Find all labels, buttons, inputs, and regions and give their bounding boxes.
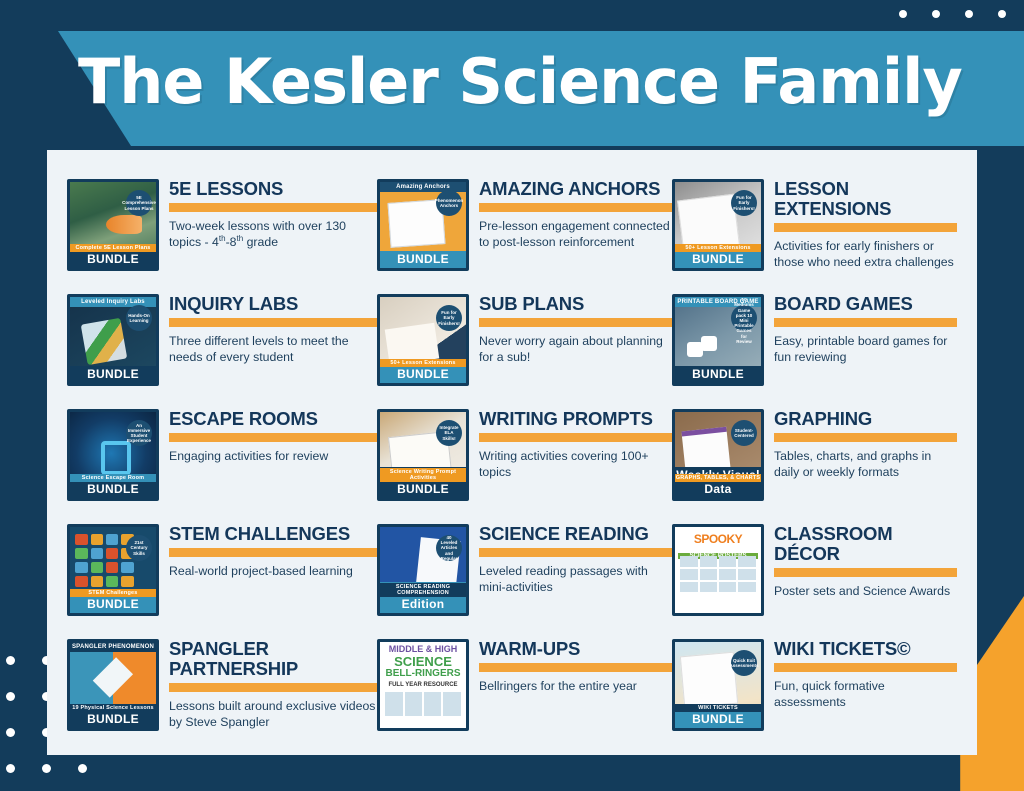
dot-row	[6, 764, 87, 773]
product-thumbnail[interactable]: Integrate ELA Skills!MEGA BUNDLEScience …	[377, 409, 469, 501]
product-title: 5E LESSONS	[169, 179, 377, 199]
product-text-block: SCIENCE READINGLeveled reading passages …	[479, 520, 672, 596]
product-thumbnail[interactable]: SPOOKYSCIENCE POSTERS	[672, 524, 764, 616]
product-text-block: WARM-UPSBellringers for the entire year	[479, 635, 672, 694]
product-item[interactable]: 40 Leveled Articles and RegularBundle Ed…	[377, 520, 672, 635]
accent-rule	[479, 203, 672, 212]
dot	[6, 764, 15, 773]
desc-text: Engaging activities for review	[169, 449, 328, 463]
thumbnail-badge: 40 Leveled Articles and Regular	[436, 535, 462, 561]
product-title: SUB PLANS	[479, 294, 672, 314]
thumbnail-badge: Quick Exit Assessments	[731, 650, 757, 676]
desc-text: Writing activities covering 100+ topics	[479, 449, 649, 479]
product-item[interactable]: Student-CenteredWeekly Visual DataGRAPHS…	[672, 405, 957, 520]
accent-rule	[479, 433, 672, 442]
thumbnail-badge: 21st Century Skills	[126, 535, 152, 561]
product-description: Three different levels to meet the needs…	[169, 333, 377, 366]
product-thumbnail[interactable]: SPANGLER PHENOMENONBUNDLE19 Physical Sci…	[67, 639, 159, 731]
warm-thumb-grid	[385, 692, 461, 716]
dot	[899, 10, 907, 18]
thumbnail-caption: BUNDLE	[380, 251, 466, 268]
product-text-block: INQUIRY LABSThree different levels to me…	[169, 290, 377, 366]
dot	[965, 10, 973, 18]
accent-rule	[774, 568, 957, 577]
dot	[6, 692, 15, 701]
thumbnail-caption: BUNDLE	[70, 251, 156, 268]
product-text-block: GRAPHINGTables, charts, and graphs in da…	[774, 405, 957, 481]
product-description: Two-week lessons with over 130 topics - …	[169, 218, 377, 251]
product-text-block: STEM CHALLENGESReal-world project-based …	[169, 520, 377, 579]
accent-rule	[774, 433, 957, 442]
thumbnail-caption: BUNDLE	[675, 366, 761, 383]
thumbnail-subcaption: 19 Physical Science Lessons	[70, 704, 156, 712]
desc-text: Never worry again about planning for a s…	[479, 334, 663, 364]
product-description: Pre-lesson engagement connected to post-…	[479, 218, 672, 251]
desc-text: Three different levels to meet the needs…	[169, 334, 349, 364]
product-item[interactable]: Fun for Early Finishers!BUNDLE50+ Lesson…	[377, 290, 672, 405]
product-item[interactable]: Amazing AnchorsPhenomenon AnchorsBUNDLEA…	[377, 175, 672, 290]
product-title: GRAPHING	[774, 409, 957, 429]
product-item[interactable]: PRINTABLE BOARD GAMEIncludes 10 Mediums …	[672, 290, 957, 405]
product-title: WRITING PROMPTS	[479, 409, 672, 429]
thumbnail-badge: An Immersive Student Experience	[126, 420, 152, 446]
product-title: AMAZING ANCHORS	[479, 179, 672, 199]
product-description: Never worry again about planning for a s…	[479, 333, 672, 366]
product-title: WARM-UPS	[479, 639, 672, 659]
content-card: 5E Comprehensive Lesson PlansBUNDLECompl…	[47, 150, 977, 755]
desc-end: grade	[243, 236, 278, 250]
product-thumbnail[interactable]: Leveled Inquiry LabsHands-On LearningBUN…	[67, 294, 159, 386]
thumbnail-caption: Weekly Visual Data	[675, 467, 761, 498]
product-grid: 5E Comprehensive Lesson PlansBUNDLECompl…	[67, 175, 957, 750]
thumbnail-subcaption: STEM Challenges	[70, 589, 156, 597]
product-text-block: AMAZING ANCHORSPre-lesson engagement con…	[479, 175, 672, 251]
product-item[interactable]: Integrate ELA Skills!MEGA BUNDLEScience …	[377, 405, 672, 520]
thumbnail-badge: 5E Comprehensive Lesson Plans	[126, 190, 152, 216]
desc-text: Lessons built around exclusive videos by…	[169, 699, 375, 729]
product-thumbnail[interactable]: 5E Comprehensive Lesson PlansBUNDLECompl…	[67, 179, 159, 271]
desc-text: Fun, quick formative assessments	[774, 679, 885, 709]
stem-icon-grid	[75, 534, 133, 587]
thumbnail-caption: BUNDLE	[70, 711, 156, 728]
thumbnail-subcaption: GRAPHS, TABLES, & CHARTS	[675, 474, 761, 482]
desc-text: Poster sets and Science Awards	[774, 584, 950, 598]
accent-rule	[169, 548, 377, 557]
product-description: Fun, quick formative assessments	[774, 678, 957, 711]
product-title: ESCAPE ROOMS	[169, 409, 377, 429]
product-text-block: ESCAPE ROOMSEngaging activities for revi…	[169, 405, 377, 464]
desc-text: Tables, charts, and graphs in daily or w…	[774, 449, 931, 479]
thumbnail-caption: BUNDLE	[70, 366, 156, 383]
product-thumbnail[interactable]: MIDDLE & HIGHSCIENCEBELL-RINGERSFULL YEA…	[377, 639, 469, 731]
thumbnail-subcaption: 50+ Lesson Extensions	[380, 359, 466, 367]
desc-sup-1: th	[219, 234, 226, 243]
product-title: SCIENCE READING	[479, 524, 672, 544]
product-text-block: CLASSROOM DÉCORPoster sets and Science A…	[774, 520, 957, 599]
product-description: Lessons built around exclusive videos by…	[169, 698, 377, 731]
thumbnail-subcaption: SCIENCE READING COMPREHENSION	[380, 583, 466, 597]
accent-rule	[169, 683, 377, 692]
accent-rule	[479, 548, 672, 557]
desc-text: Easy, printable board games for fun revi…	[774, 334, 947, 364]
accent-rule	[774, 223, 957, 232]
product-item[interactable]: Quick Exit AssessmentsBUNDLEWIKI TICKETS…	[672, 635, 957, 750]
product-text-block: SPANGLER PARTNERSHIPLessons built around…	[169, 635, 377, 731]
product-thumbnail[interactable]: Quick Exit AssessmentsBUNDLEWIKI TICKETS	[672, 639, 764, 731]
thumbnail-badge: Fun for Early Finishers!	[436, 305, 462, 331]
product-thumbnail[interactable]: An Immersive Student ExperienceBUNDLESci…	[67, 409, 159, 501]
desc-text: Activities for early finishers or those …	[774, 239, 954, 269]
thumbnail-top-label: SPANGLER PHENOMENON	[70, 642, 156, 652]
thumbnail-badge: Integrate ELA Skills!	[436, 420, 462, 446]
product-text-block: SUB PLANSNever worry again about plannin…	[479, 290, 672, 366]
dot-row	[886, 10, 1006, 18]
accent-rule	[774, 318, 957, 327]
thumbnail-subcaption: WIKI TICKETS	[675, 704, 761, 712]
thumbnail-subcaption: 50+ Lesson Extensions	[675, 244, 761, 252]
thumbnail-caption: BUNDLE	[675, 251, 761, 268]
thumbnail-badge: Hands-On Learning	[126, 305, 152, 331]
product-thumbnail[interactable]: 40 Leveled Articles and RegularBundle Ed…	[377, 524, 469, 616]
product-item[interactable]: SPOOKYSCIENCE POSTERSCLASSROOM DÉCORPost…	[672, 520, 957, 635]
product-text-block: BOARD GAMESEasy, printable board games f…	[774, 290, 957, 366]
desc-text: Pre-lesson engagement connected to post-…	[479, 219, 670, 249]
thumbnail-subcaption: Science Writing Prompt Activities	[380, 468, 466, 482]
product-title: LESSON EXTENSIONS	[774, 179, 957, 219]
product-text-block: LESSON EXTENSIONSActivities for early fi…	[774, 175, 957, 271]
product-item[interactable]: SPANGLER PHENOMENONBUNDLE19 Physical Sci…	[67, 635, 377, 750]
product-title: INQUIRY LABS	[169, 294, 377, 314]
product-text-block: WRITING PROMPTSWriting activities coveri…	[479, 405, 672, 481]
thumbnail-caption: BUNDLE	[380, 366, 466, 383]
warm-line-4: FULL YEAR RESOURCE	[388, 682, 457, 688]
thumbnail-caption: BUNDLE	[70, 596, 156, 613]
warm-line-3: BELL-RINGERS	[386, 668, 461, 679]
product-description: Activities for early finishers or those …	[774, 238, 957, 271]
thumbnail-badge: Includes 10 Mediums Game pack 10 Mini Pr…	[731, 305, 757, 331]
accent-rule	[479, 318, 672, 327]
product-item[interactable]: MIDDLE & HIGHSCIENCEBELL-RINGERSFULL YEA…	[377, 635, 672, 750]
thumbnail-decor-title: SPOOKY	[675, 532, 761, 546]
product-description: Real-world project-based learning	[169, 563, 377, 579]
poster-thumb-grid	[680, 556, 756, 592]
product-item[interactable]: Leveled Inquiry LabsHands-On LearningBUN…	[67, 290, 377, 405]
product-title: CLASSROOM DÉCOR	[774, 524, 957, 564]
accent-rule	[169, 433, 377, 442]
product-item[interactable]: 5E Comprehensive Lesson PlansBUNDLECompl…	[67, 175, 377, 290]
desc-text: Bellringers for the entire year	[479, 679, 637, 693]
product-thumbnail[interactable]: Fun for Early Finishers!BUNDLE50+ Lesson…	[377, 294, 469, 386]
product-description: Poster sets and Science Awards	[774, 583, 957, 599]
thumbnail-badge: Student-Centered	[731, 420, 757, 446]
accent-rule	[774, 663, 957, 672]
product-title: STEM CHALLENGES	[169, 524, 377, 544]
thumbnail-badge: Fun for Early Finishers!	[731, 190, 757, 216]
product-description: Leveled reading passages with mini-activ…	[479, 563, 672, 596]
product-title: WIKI TICKETS©	[774, 639, 957, 659]
thumbnail-caption: BUNDLE	[675, 711, 761, 728]
product-text-block: 5E LESSONSTwo-week lessons with over 130…	[169, 175, 377, 251]
dot	[42, 764, 51, 773]
dot	[998, 10, 1006, 18]
thumbnail-badge: Phenomenon Anchors	[436, 190, 462, 216]
product-thumbnail[interactable]: 21st Century SkillsBUNDLESTEM Challenges	[67, 524, 159, 616]
page-title: The Kesler Science Family	[78, 45, 962, 118]
dot	[78, 764, 87, 773]
thumbnail-subcaption: Complete 5E Lesson Plans	[70, 244, 156, 252]
accent-rule	[479, 663, 672, 672]
product-description: Engaging activities for review	[169, 448, 377, 464]
product-description: Tables, charts, and graphs in daily or w…	[774, 448, 957, 481]
product-description: Bellringers for the entire year	[479, 678, 672, 694]
product-thumbnail[interactable]: PRINTABLE BOARD GAMEIncludes 10 Mediums …	[672, 294, 764, 386]
desc-mid: -8	[226, 236, 237, 250]
product-item[interactable]: 21st Century SkillsBUNDLESTEM Challenges…	[67, 520, 377, 635]
product-text-block: WIKI TICKETS©Fun, quick formative assess…	[774, 635, 957, 711]
thumbnail-caption: BUNDLE	[70, 481, 156, 498]
product-item[interactable]: An Immersive Student ExperienceBUNDLESci…	[67, 405, 377, 520]
product-thumbnail[interactable]: Amazing AnchorsPhenomenon AnchorsBUNDLE	[377, 179, 469, 271]
thumbnail-warm-title: MIDDLE & HIGHSCIENCEBELL-RINGERSFULL YEA…	[380, 645, 466, 688]
product-item[interactable]: Fun for Early Finishers!BUNDLE50+ Lesson…	[672, 175, 957, 290]
product-thumbnail[interactable]: Student-CenteredWeekly Visual DataGRAPHS…	[672, 409, 764, 501]
dot	[6, 656, 15, 665]
product-description: Easy, printable board games for fun revi…	[774, 333, 957, 366]
thumbnail-subcaption: Science Escape Room	[70, 474, 156, 482]
accent-rule	[169, 203, 377, 212]
product-thumbnail[interactable]: Fun for Early Finishers!BUNDLE50+ Lesson…	[672, 179, 764, 271]
dot	[932, 10, 940, 18]
desc-text: Leveled reading passages with mini-activ…	[479, 564, 648, 594]
product-description: Writing activities covering 100+ topics	[479, 448, 672, 481]
product-title: SPANGLER PARTNERSHIP	[169, 639, 377, 679]
desc-text: Real-world project-based learning	[169, 564, 353, 578]
accent-rule	[169, 318, 377, 327]
product-title: BOARD GAMES	[774, 294, 957, 314]
dot	[6, 728, 15, 737]
